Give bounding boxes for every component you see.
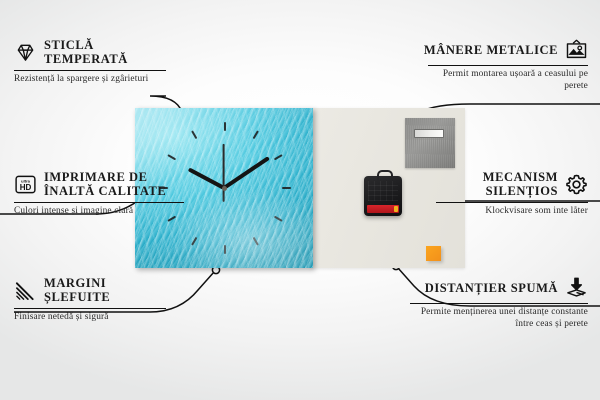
- clock-center-cap: [222, 186, 227, 191]
- callout-desc: Permit montarea ușoară a ceasului pe per…: [420, 69, 588, 92]
- hanger-slot: [414, 129, 444, 138]
- callout-tempered-glass: STICLĂ TEMPERATĂ Rezistență la spargere …: [14, 38, 174, 86]
- callout-desc: Culori intense și imagine clară: [14, 206, 192, 217]
- callout-rule: [14, 202, 184, 203]
- callout-title: DISTANȚIER SPUMĂ: [425, 281, 558, 295]
- callout-silent-mechanism: MECANISM SILENȚIOS Klockvisare som inte …: [428, 170, 588, 218]
- clock-second-hand: [223, 144, 225, 202]
- ultra-hd-icon: ultra HD: [14, 173, 37, 196]
- clock-minute-hand: [223, 156, 270, 190]
- callout-rule: [410, 303, 588, 304]
- down-arrow-pad-icon: [565, 276, 588, 299]
- callout-rule: [428, 65, 588, 66]
- clock-movement: [364, 176, 402, 216]
- callout-metal-hangers: MÂNERE METALICE Permit montarea ușoară a…: [420, 38, 588, 92]
- clock-tick: [282, 187, 291, 189]
- infographic-stage: STICLĂ TEMPERATĂ Rezistență la spargere …: [0, 0, 600, 400]
- clock-tick: [167, 154, 176, 160]
- clock-tick: [253, 130, 259, 139]
- svg-text:HD: HD: [20, 182, 32, 191]
- clock-hour-hand: [188, 167, 225, 189]
- picture-hanger-icon: [565, 38, 588, 61]
- callout-desc: Permite menținerea unei distanțe constan…: [402, 307, 588, 330]
- callout-desc: Finisare netedă și sigură: [14, 312, 174, 323]
- foam-spacer-pad: [426, 246, 441, 261]
- diamond-icon: [14, 41, 37, 64]
- clock-tick: [224, 122, 226, 131]
- callout-rule: [14, 70, 166, 71]
- battery: [367, 205, 399, 213]
- callout-title: IMPRIMARE DE ÎNALTĂ CALITATE: [44, 170, 192, 198]
- callout-title: MARGINI ȘLEFUITE: [44, 276, 174, 304]
- callout-title: MÂNERE METALICE: [424, 43, 558, 57]
- clock-tick: [253, 237, 259, 246]
- callout-foam-spacer: DISTANȚIER SPUMĂ Permite menținerea unei…: [402, 276, 588, 330]
- clock-tick: [191, 237, 197, 246]
- polished-edge-icon: [14, 279, 37, 302]
- gear-icon: [565, 173, 588, 196]
- callout-desc: Rezistență la spargere și zgârieturi: [14, 74, 174, 85]
- callout-rule: [14, 308, 166, 309]
- callout-high-quality-print: ultra HD IMPRIMARE DE ÎNALTĂ CALITATE Cu…: [14, 170, 192, 218]
- clock-tick: [224, 245, 226, 254]
- metal-hanger-plate: [405, 118, 455, 168]
- callout-desc: Klockvisare som inte låter: [428, 206, 588, 217]
- movement-grid: [368, 181, 398, 201]
- movement-hook: [377, 170, 393, 180]
- clock-tick: [274, 216, 283, 222]
- callout-rule: [436, 202, 588, 203]
- callout-title: MECANISM SILENȚIOS: [428, 170, 558, 198]
- clock-tick: [191, 130, 197, 139]
- clock-tick: [274, 154, 283, 160]
- battery-terminal: [394, 206, 398, 212]
- callout-polished-edges: MARGINI ȘLEFUITE Finisare netedă și sigu…: [14, 276, 174, 324]
- callout-title: STICLĂ TEMPERATĂ: [44, 38, 174, 66]
